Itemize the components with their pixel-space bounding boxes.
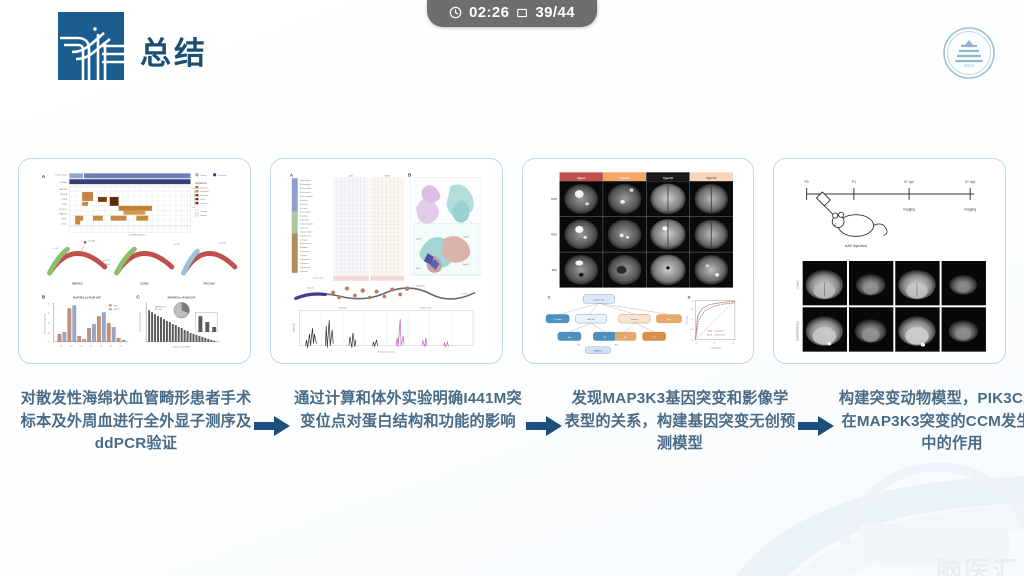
step-caption-2: 通过计算和体外实验明确I441M突变位点对蛋白结构和功能的影响 <box>290 388 526 433</box>
svg-text:WES: WES <box>114 305 119 307</box>
svg-text:Recurrent: Recurrent <box>218 174 227 177</box>
page-title: 总结 <box>140 28 208 73</box>
svg-text:Arabidopsis: Arabidopsis <box>299 246 308 249</box>
svg-text:Sus scrofa: Sus scrofa <box>299 208 307 210</box>
svg-text:ddPCR: ddPCR <box>114 309 120 311</box>
svg-text:n = 18: n = 18 <box>53 248 59 250</box>
elapsed-time: 02:26 <box>469 4 509 21</box>
protein-structure-figure: A Homo sapiensPan troglodytes Macaca mul… <box>278 166 495 356</box>
svg-text:Primary: Primary <box>200 175 206 177</box>
svg-text:Lesion size: Lesion size <box>593 299 605 301</box>
svg-text:C06: C06 <box>109 346 112 348</box>
svg-text:RMSF (Å): RMSF (Å) <box>292 323 295 332</box>
step-arrow-2 <box>526 388 562 438</box>
svg-text:6th wpi: 6th wpi <box>905 180 915 184</box>
arrow-right-icon <box>798 414 834 438</box>
watermark-text: 脑医汇 <box>936 551 1020 576</box>
svg-text:PDCD10: PDCD10 <box>59 209 68 211</box>
step-caption-3: 发现MAP3K3基因突变和影像学表型的关系，构建基因突变无创预测模型 <box>562 388 798 456</box>
svg-text:10: 10 <box>48 333 50 335</box>
svg-text:C: C <box>136 294 140 300</box>
svg-text:B: B <box>408 172 411 177</box>
svg-text:Ile441: Ile441 <box>416 268 421 270</box>
svg-text:In-frame: In-frame <box>200 203 207 205</box>
svg-text:30: 30 <box>48 313 50 315</box>
svg-text:Equus caballus: Equus caballus <box>299 212 310 214</box>
svg-text:0.5: 0.5 <box>713 343 715 345</box>
svg-text:C07: C07 <box>119 346 122 348</box>
svg-text:Somatic: Somatic <box>200 214 206 217</box>
svg-text:MUTATION: MUTATION <box>195 182 207 185</box>
svg-text:Pan troglodytes: Pan troglodytes <box>299 183 311 186</box>
svg-text:MAP3K3: MAP3K3 <box>594 350 603 353</box>
caption-row: 对散发性海绵状血管畸形患者手术标本及外周血进行全外显子测序及ddPCR验证 通过… <box>18 388 1006 508</box>
svg-text:Leishmania: Leishmania <box>299 271 308 273</box>
svg-text:I441M site: I441M site <box>416 285 425 288</box>
svg-text:Lys391: Lys391 <box>416 238 421 240</box>
svg-text:MAP3K3/PIK3CA: MAP3K3/PIK3CA <box>796 321 800 341</box>
svg-text:Sensitivity: Sensitivity <box>685 316 688 324</box>
svg-text:Glu468: Glu468 <box>463 236 468 238</box>
svg-text:Wild-type: Wild-type <box>339 306 347 309</box>
svg-text:Variant allele frequency: Variant allele frequency <box>44 314 47 334</box>
svg-text:40: 40 <box>48 303 50 305</box>
svg-text:Gallus gallus: Gallus gallus <box>299 220 309 222</box>
svg-text:C-term: C-term <box>461 292 467 295</box>
svg-text:Variant allele frequency: Variant allele frequency <box>138 312 141 332</box>
svg-text:Bos taurus: Bos taurus <box>299 199 307 202</box>
svg-text:MEKK3: MEKK3 <box>72 282 83 286</box>
step-caption-1: 对散发性海绵状血管畸形患者手术标本及外周血进行全外显子测序及ddPCR验证 <box>18 388 254 456</box>
svg-text:C. elegans: C. elegans <box>299 239 307 241</box>
svg-text:MUT: MUT <box>614 345 619 347</box>
svg-text:Type I: Type I <box>577 176 585 180</box>
svg-text:PDCD10: PDCD10 <box>203 282 215 286</box>
svg-text:Imaging: Imaging <box>964 208 976 212</box>
svg-text:Asp505: Asp505 <box>463 263 469 266</box>
svg-text:MAP3K3 p.I441M VAF: MAP3K3 p.I441M VAF <box>168 295 196 299</box>
svg-text:D: D <box>687 294 690 299</box>
svg-text:Edema: Edema <box>631 319 638 321</box>
svg-text:Splice: Splice <box>200 199 205 201</box>
svg-text:Takifugu rubripes: Takifugu rubripes <box>299 231 312 233</box>
svg-text:C: C <box>547 294 550 299</box>
svg-text:Rattus norvegicus: Rattus norvegicus <box>299 195 312 198</box>
svg-text:Oryza sativa: Oryza sativa <box>299 250 308 253</box>
svg-text:Imaging: Imaging <box>903 208 915 212</box>
svg-text:Nonsense: Nonsense <box>200 195 208 197</box>
svg-text:Oryctolagus: Oryctolagus <box>299 215 308 218</box>
svg-text:Dictyostelium: Dictyostelium <box>299 258 309 261</box>
genomics-figure: A <box>26 166 243 356</box>
svg-text:C03: C03 <box>80 346 83 348</box>
svg-text:Type III: Type III <box>662 176 672 180</box>
svg-text:Missense: Missense <box>200 187 207 189</box>
figure-card-1[interactable]: A <box>18 158 251 364</box>
svg-text:Danio rerio: Danio rerio <box>299 227 307 229</box>
svg-text:PIK3CA: PIK3CA <box>60 193 68 196</box>
svg-text:CCM1: CCM1 <box>62 199 69 201</box>
svg-text:MAP3K3-mut: MAP3K3-mut <box>155 305 166 308</box>
svg-text:MAP2K7: MAP2K7 <box>59 213 68 216</box>
svg-text:0.25: 0.25 <box>690 329 693 331</box>
svg-text:Tumor Status: Tumor Status <box>55 173 67 176</box>
svg-text:C01: C01 <box>60 346 63 348</box>
svg-text:SWI foci: SWI foci <box>587 319 595 321</box>
svg-text:0.0: 0.0 <box>691 340 693 342</box>
svg-text:I441: I441 <box>349 175 354 177</box>
svg-text:A: A <box>42 174 46 180</box>
svg-text:MAP3K3: MAP3K3 <box>59 188 68 191</box>
svg-text:Others: Others <box>61 223 67 226</box>
svg-text:Type IV: Type IV <box>706 176 716 180</box>
svg-text:T1WI: T1WI <box>550 197 556 201</box>
svg-text:T2 signal: T2 signal <box>553 319 562 321</box>
arrow-right-icon <box>526 414 562 438</box>
svg-text:Simulation time (ns): Simulation time (ns) <box>377 351 395 354</box>
svg-text:p.E387K: p.E387K <box>103 260 111 262</box>
svg-text:Mus musculus: Mus musculus <box>299 192 310 194</box>
university-seal: 1912 <box>942 26 996 80</box>
clock-icon <box>449 6 462 19</box>
svg-text:SWI: SWI <box>551 268 556 272</box>
svg-text:T2WI: T2WI <box>550 232 556 236</box>
svg-text:0.0: 0.0 <box>695 343 697 345</box>
svg-text:20: 20 <box>48 323 50 325</box>
figure-card-3[interactable]: Type IType II Type III Type IV <box>522 158 755 364</box>
svg-text:CCM2: CCM2 <box>62 204 69 206</box>
svg-text:p.R113*: p.R113* <box>219 242 226 244</box>
svg-text:Control: Control <box>796 280 800 289</box>
svg-text:Macaca mulatta: Macaca mulatta <box>299 187 311 190</box>
svg-text:Drosophila mel.: Drosophila mel. <box>299 235 311 237</box>
svg-text:Training (0.87): Training (0.87) <box>714 331 725 333</box>
animal-model-figure: P0 P1 6th wpi 3rd mpi Imaging Imaging <box>781 166 998 356</box>
svg-text:C04: C04 <box>90 346 93 348</box>
svg-text:CCM2: CCM2 <box>140 282 149 286</box>
step-arrow-1 <box>254 388 290 438</box>
arrow-right-icon <box>254 414 290 438</box>
step-caption-4: 构建突变动物模型，PIK3CA突变在MAP3K3突变的CCM发生发展中的作用 <box>834 388 1024 456</box>
svg-text:WT: WT <box>577 345 581 347</box>
svg-text:N-term: N-term <box>307 287 313 290</box>
svg-text:P1: P1 <box>852 180 856 184</box>
svg-text:1 - Specificity: 1 - Specificity <box>709 347 720 350</box>
svg-text:66 / 104: 66 / 104 <box>155 309 161 311</box>
svg-text:0.75: 0.75 <box>690 309 693 311</box>
svg-text:3rd mpi: 3rd mpi <box>965 180 975 184</box>
svg-text:Mutation allele (VAF): Mutation allele (VAF) <box>173 346 191 349</box>
figure-card-2[interactable]: A Homo sapiensPan troglodytes Macaca mul… <box>270 158 503 364</box>
svg-text:0.5: 0.5 <box>691 319 693 321</box>
svg-text:C05: C05 <box>99 346 102 348</box>
svg-text:Subtype: Subtype <box>60 181 68 184</box>
svg-text:Mut: Mut <box>623 336 627 339</box>
svg-text:Xenopus tropicalis: Xenopus tropicalis <box>299 223 313 226</box>
mri-phenotype-figure: Type IType II Type III Type IV <box>530 166 747 356</box>
svg-text:p.Q455R/p.R494Q: p.Q455R/p.R494Q <box>128 234 145 236</box>
svg-text:Homo sapiens: Homo sapiens <box>299 180 310 182</box>
playback-timer-chip[interactable]: 02:26 39/44 <box>427 0 597 27</box>
institution-logo-mark <box>58 12 124 80</box>
svg-text:I441M mutant: I441M mutant <box>420 306 432 309</box>
svg-text:0: 0 <box>49 341 50 343</box>
svg-text:Germline: Germline <box>200 211 207 213</box>
svg-text:M441: M441 <box>384 175 390 177</box>
svg-text:Zea mays: Zea mays <box>299 255 306 257</box>
svg-text:1912: 1912 <box>964 63 975 68</box>
svg-text:P0: P0 <box>805 180 809 184</box>
svg-text:Type II: Type II <box>620 176 629 180</box>
svg-text:MAP3K3 p.I441M VAF: MAP3K3 p.I441M VAF <box>73 295 101 299</box>
svg-text:p.D396N: p.D396N <box>103 264 111 266</box>
svg-text:Canis lupus: Canis lupus <box>299 204 308 206</box>
presentation-slide: 脑医汇 02:26 39/44 <box>0 0 1024 576</box>
svg-text:1.0: 1.0 <box>731 343 733 345</box>
slide-icon <box>516 7 528 19</box>
svg-text:Conservation: Conservation <box>313 277 323 280</box>
step-arrow-3 <box>798 388 834 438</box>
svg-text:KRIT1: KRIT1 <box>62 219 69 221</box>
figure-card-row: A <box>18 158 1006 364</box>
svg-text:p.L58P: p.L58P <box>174 244 181 246</box>
svg-text:Mut: Mut <box>567 336 571 339</box>
figure-card-4[interactable]: P0 P1 6th wpi 3rd mpi Imaging Imaging <box>773 158 1006 364</box>
svg-text:C02: C02 <box>70 346 73 348</box>
svg-text:1.0: 1.0 <box>691 300 693 302</box>
svg-text:Plasmodium: Plasmodium <box>299 263 309 265</box>
svg-text:B: B <box>42 294 46 300</box>
svg-text:A: A <box>290 172 294 177</box>
svg-text:p.I441M: p.I441M <box>88 240 95 242</box>
svg-text:Saccharomyces: Saccharomyces <box>299 243 311 245</box>
svg-text:Frameshift: Frameshift <box>200 190 209 193</box>
slide-counter: 39/44 <box>535 4 575 21</box>
svg-text:Trypanosoma: Trypanosoma <box>299 267 309 269</box>
svg-text:AAV injection: AAV injection <box>845 244 867 248</box>
